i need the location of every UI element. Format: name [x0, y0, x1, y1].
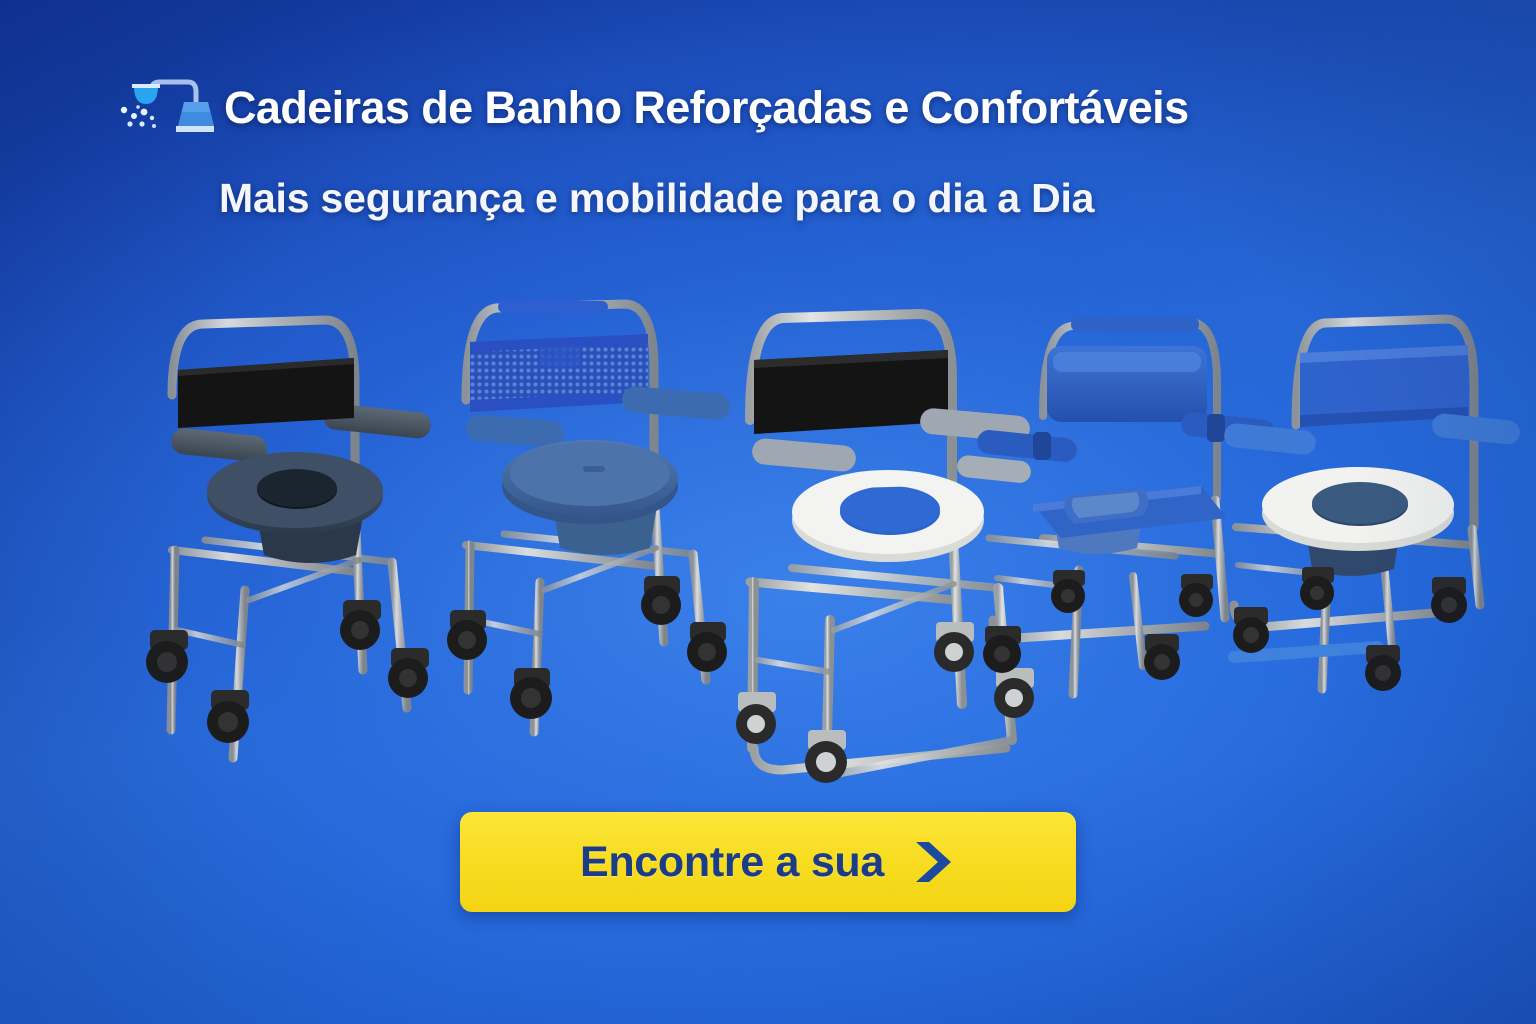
page-subtitle: Mais segurança e mobilidade para o dia a… — [219, 178, 1094, 219]
shower-head-icon — [118, 74, 214, 140]
title-row: Cadeiras de Banho Reforçadas e Confortáv… — [118, 74, 1189, 140]
cadeira-banho-2 — [448, 290, 738, 760]
cta-label: Encontre a sua — [580, 838, 884, 887]
page-title: Cadeiras de Banho Reforçadas e Confortáv… — [224, 85, 1189, 130]
cadeira-banho-5 — [1218, 305, 1508, 755]
cadeira-banho-1 — [145, 300, 445, 780]
encontre-a-sua-button[interactable]: Encontre a sua — [460, 812, 1076, 912]
chevron-right-icon — [912, 839, 956, 885]
promo-banner: Cadeiras de Banho Reforçadas e Confortáv… — [0, 0, 1536, 1024]
